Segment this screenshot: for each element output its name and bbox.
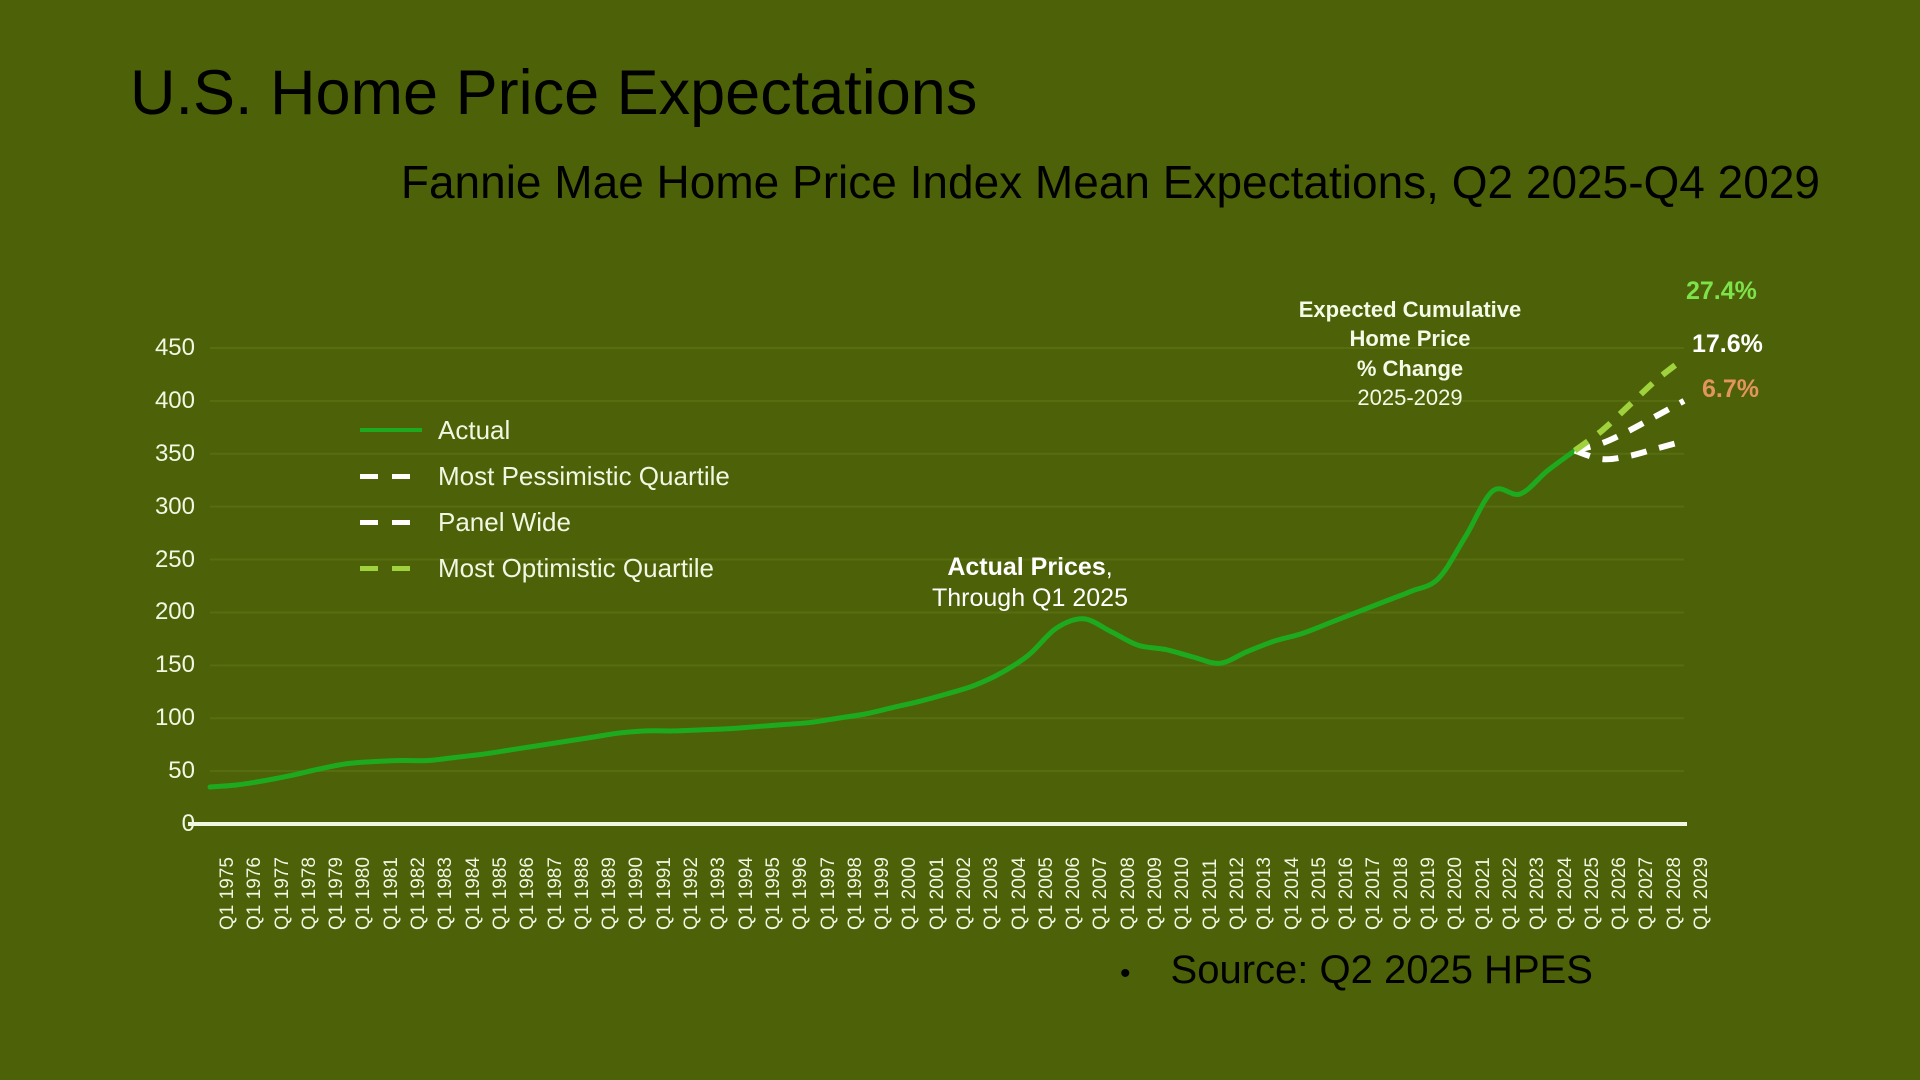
- chart-legend: ActualMost Pessimistic QuartilePanel Wid…: [360, 415, 730, 599]
- y-axis: 050100150200250300350400450: [115, 0, 195, 1080]
- source-line: • Source: Q2 2025 HPES: [1120, 948, 1593, 993]
- y-tick-label: 350: [115, 440, 195, 468]
- legend-item-most-pessimistic-quartile[interactable]: Most Pessimistic Quartile: [360, 461, 730, 491]
- legend-item-panel-wide[interactable]: Panel Wide: [360, 507, 730, 537]
- series-line-most-pessimistic-quartile: [1575, 441, 1684, 459]
- y-tick-label: 100: [115, 704, 195, 732]
- line-chart: [0, 0, 1920, 1080]
- cumulative-line-3: % Change: [1265, 354, 1555, 383]
- pct-label-pessimistic: 6.7%: [1702, 375, 1759, 404]
- y-tick-label: 250: [115, 546, 195, 574]
- legend-swatch-icon: [360, 474, 422, 479]
- actual-prices-comma: ,: [1106, 553, 1113, 581]
- actual-prices-label: Actual Prices: [947, 553, 1105, 581]
- cumulative-line-4: 2025-2029: [1265, 383, 1555, 412]
- y-tick-label: 150: [115, 651, 195, 679]
- cumulative-change-annotation: Expected Cumulative Home Price % Change …: [1265, 295, 1555, 412]
- legend-swatch-icon: [360, 428, 422, 432]
- cumulative-line-1: Expected Cumulative: [1265, 295, 1555, 324]
- y-tick-label: 300: [115, 493, 195, 521]
- series-line-most-optimistic-quartile: [1575, 359, 1684, 451]
- source-text: Source: Q2 2025 HPES: [1171, 948, 1593, 993]
- legend-label: Most Optimistic Quartile: [438, 555, 714, 581]
- pct-label-panel-wide: 17.6%: [1692, 330, 1763, 359]
- legend-swatch-icon: [360, 566, 422, 571]
- legend-label: Actual: [438, 417, 510, 443]
- y-tick-label: 400: [115, 387, 195, 415]
- actual-prices-annotation: Actual Prices, Through Q1 2025: [870, 552, 1190, 615]
- y-tick-label: 200: [115, 598, 195, 626]
- bullet-icon: •: [1120, 959, 1131, 989]
- cumulative-line-2: Home Price: [1265, 324, 1555, 353]
- legend-swatch-icon: [360, 520, 422, 525]
- actual-prices-sublabel: Through Q1 2025: [870, 583, 1190, 614]
- legend-label: Most Pessimistic Quartile: [438, 463, 730, 489]
- pct-label-optimistic: 27.4%: [1686, 277, 1757, 306]
- y-tick-label: 50: [115, 757, 195, 785]
- y-tick-label: 450: [115, 334, 195, 362]
- legend-item-most-optimistic-quartile[interactable]: Most Optimistic Quartile: [360, 553, 730, 583]
- legend-label: Panel Wide: [438, 509, 571, 535]
- y-tick-label: 0: [115, 810, 195, 838]
- legend-item-actual[interactable]: Actual: [360, 415, 730, 445]
- slide-canvas: U.S. Home Price Expectations Fannie Mae …: [0, 0, 1920, 1080]
